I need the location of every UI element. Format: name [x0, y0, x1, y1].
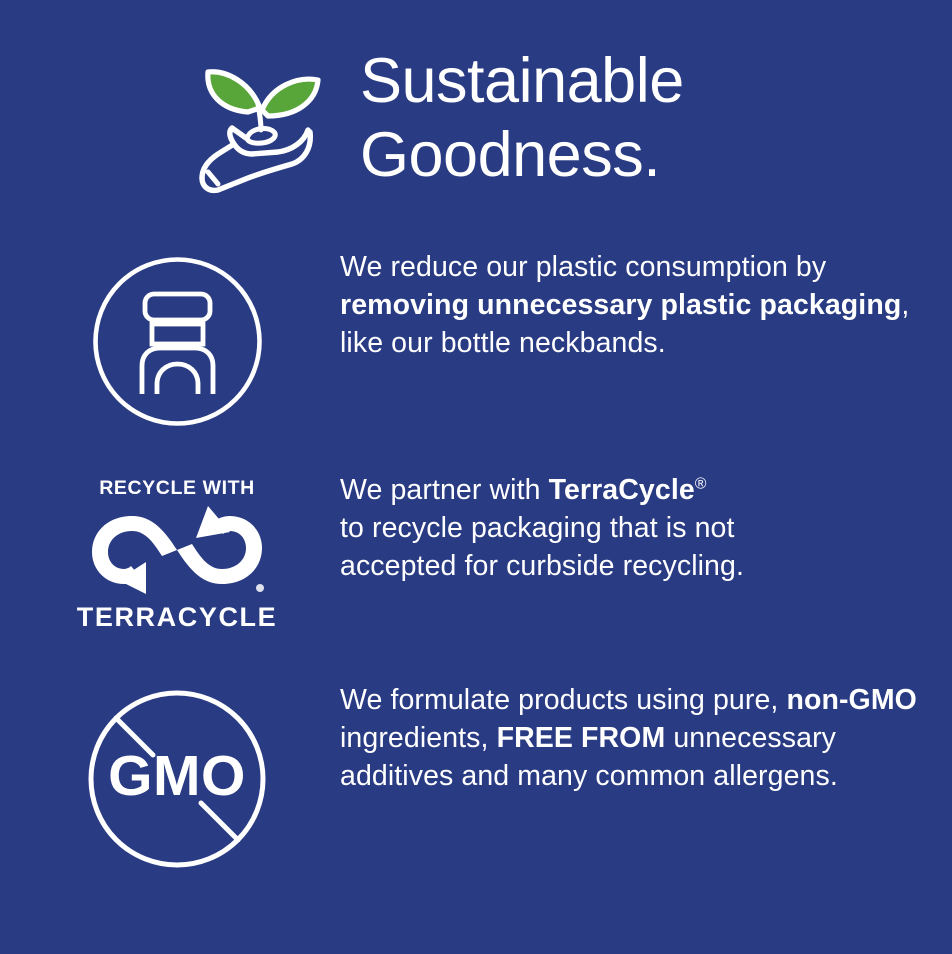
terracycle-top-label: RECYCLE WITH	[99, 477, 255, 500]
registered-mark-dot	[256, 584, 264, 592]
plastic-bottle-in-circle-icon	[90, 254, 265, 429]
gmo-label: GMO	[108, 744, 246, 808]
text-cell: We partner with TerraCycle®to recycle pa…	[340, 471, 952, 586]
claim-text-terracycle: We partner with TerraCycle®to recycle pa…	[340, 471, 938, 586]
list-item: We reduce our plastic consumption by rem…	[0, 248, 952, 429]
list-item: RECYCLE WITH TERRACYCLE	[0, 471, 952, 633]
claims-list: We reduce our plastic consumption by rem…	[0, 248, 952, 873]
icon-cell	[0, 248, 340, 429]
text-cell: We formulate products using pure, non-GM…	[340, 681, 952, 796]
terracycle-recycle-loop-logo: RECYCLE WITH TERRACYCLE	[77, 477, 277, 633]
terracycle-bottom-label: TERRACYCLE	[77, 602, 278, 633]
list-item: GMO We formulate products using pure, no…	[0, 681, 952, 873]
infinity-loop-icon	[84, 504, 270, 596]
sustainable-goodness-infographic: { "theme": { "background_color": "#293b8…	[0, 0, 952, 954]
icon-cell: RECYCLE WITH TERRACYCLE	[0, 471, 340, 633]
page-title: Sustainable Goodness.	[360, 44, 684, 193]
text-cell: We reduce our plastic consumption by rem…	[340, 248, 952, 363]
icon-cell: GMO	[0, 681, 340, 873]
claim-text-plastic: We reduce our plastic consumption by rem…	[340, 248, 938, 363]
claim-text-gmo: We formulate products using pure, non-GM…	[340, 681, 938, 796]
no-gmo-icon: GMO	[83, 685, 271, 873]
header: Sustainable Goodness.	[0, 0, 952, 196]
hand-holding-sprout-icon	[188, 46, 338, 196]
